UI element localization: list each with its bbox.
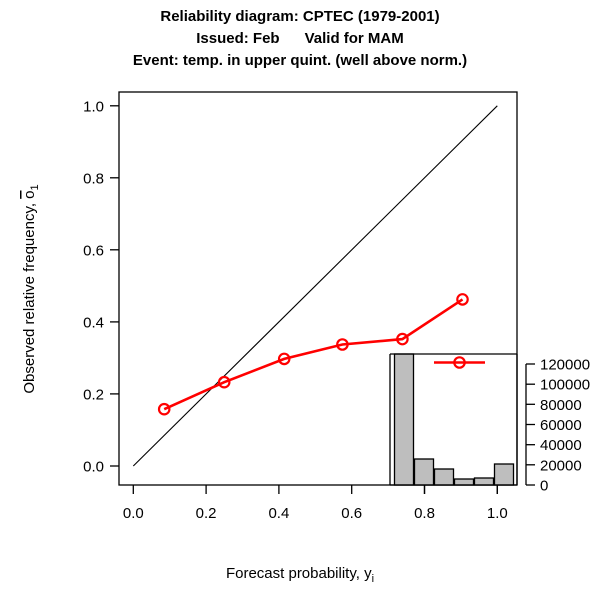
x-tick-label: 0.6 — [341, 505, 362, 522]
inset-y-tick-label: 120000 — [540, 357, 590, 374]
x-tick-label: 1.0 — [487, 505, 508, 522]
inset-y-tick-label: 80000 — [540, 397, 582, 414]
main-plot-frame — [119, 92, 517, 485]
inset-bar — [395, 354, 414, 485]
inset-bar — [455, 479, 474, 485]
y-axis-title-subscript: 1 — [29, 184, 41, 190]
y-axis-title-text: Observed relative frequency, — [21, 199, 38, 394]
inset-bar — [475, 478, 494, 485]
x-axis-title-subscript: i — [372, 573, 374, 585]
x-tick-label: 0.4 — [268, 505, 289, 522]
x-axis-title: Forecast probability, yi — [226, 565, 374, 585]
reliability-extra-point — [434, 357, 485, 367]
y-axis-tick-labels: 1.0 0.8 0.6 0.4 0.2 0.0 — [83, 98, 104, 475]
y-tick-label: 0.6 — [83, 242, 104, 259]
reliability-diagram-figure: Reliability diagram: CPTEC (1979-2001) I… — [0, 0, 600, 600]
inset-y-tick-labels: 120000 100000 80000 60000 40000 20000 0 — [540, 357, 590, 495]
y-axis-title: Observed relative frequency, o1 — [21, 184, 41, 393]
svg-text:Forecast probability, yi: Forecast probability, yi — [226, 565, 374, 585]
inset-y-tick-label: 60000 — [540, 417, 582, 434]
y-tick-label: 0.8 — [83, 170, 104, 187]
inset-bar — [495, 464, 514, 485]
svg-text:Observed relative frequency, o: Observed relative frequency, o1 — [21, 184, 41, 393]
inset-bar — [435, 469, 454, 485]
inset-y-axis — [526, 364, 535, 485]
x-axis-tick-labels: 0.0 0.2 0.4 0.6 0.8 1.0 — [123, 505, 508, 522]
y-axis-ticks — [110, 106, 119, 466]
inset-y-tick-label: 0 — [540, 478, 548, 495]
inset-x-ticks — [425, 485, 498, 494]
y-tick-label: 0.0 — [83, 459, 104, 476]
y-axis-title-obar: o — [21, 190, 38, 198]
y-tick-label: 0.2 — [83, 386, 104, 403]
inset-histogram: 120000 100000 80000 60000 40000 20000 0 — [390, 354, 590, 495]
x-axis-ticks — [133, 485, 497, 494]
inset-y-tick-label: 20000 — [540, 457, 582, 474]
inset-y-tick-label: 40000 — [540, 437, 582, 454]
data-point-marker — [457, 294, 467, 304]
x-tick-label: 0.8 — [414, 505, 435, 522]
y-tick-label: 1.0 — [83, 98, 104, 115]
x-axis-title-text: Forecast probability, y — [226, 565, 372, 582]
inset-bar — [415, 459, 434, 485]
diagonal-reference-line — [133, 106, 497, 466]
x-tick-label: 0.0 — [123, 505, 144, 522]
plot-canvas: 1.0 0.8 0.6 0.4 0.2 0.0 0.0 0.2 0.4 0.6 … — [0, 0, 600, 600]
inset-y-tick-label: 100000 — [540, 377, 590, 394]
x-tick-label: 0.2 — [196, 505, 217, 522]
y-tick-label: 0.4 — [83, 314, 104, 331]
inset-bars — [395, 354, 514, 485]
